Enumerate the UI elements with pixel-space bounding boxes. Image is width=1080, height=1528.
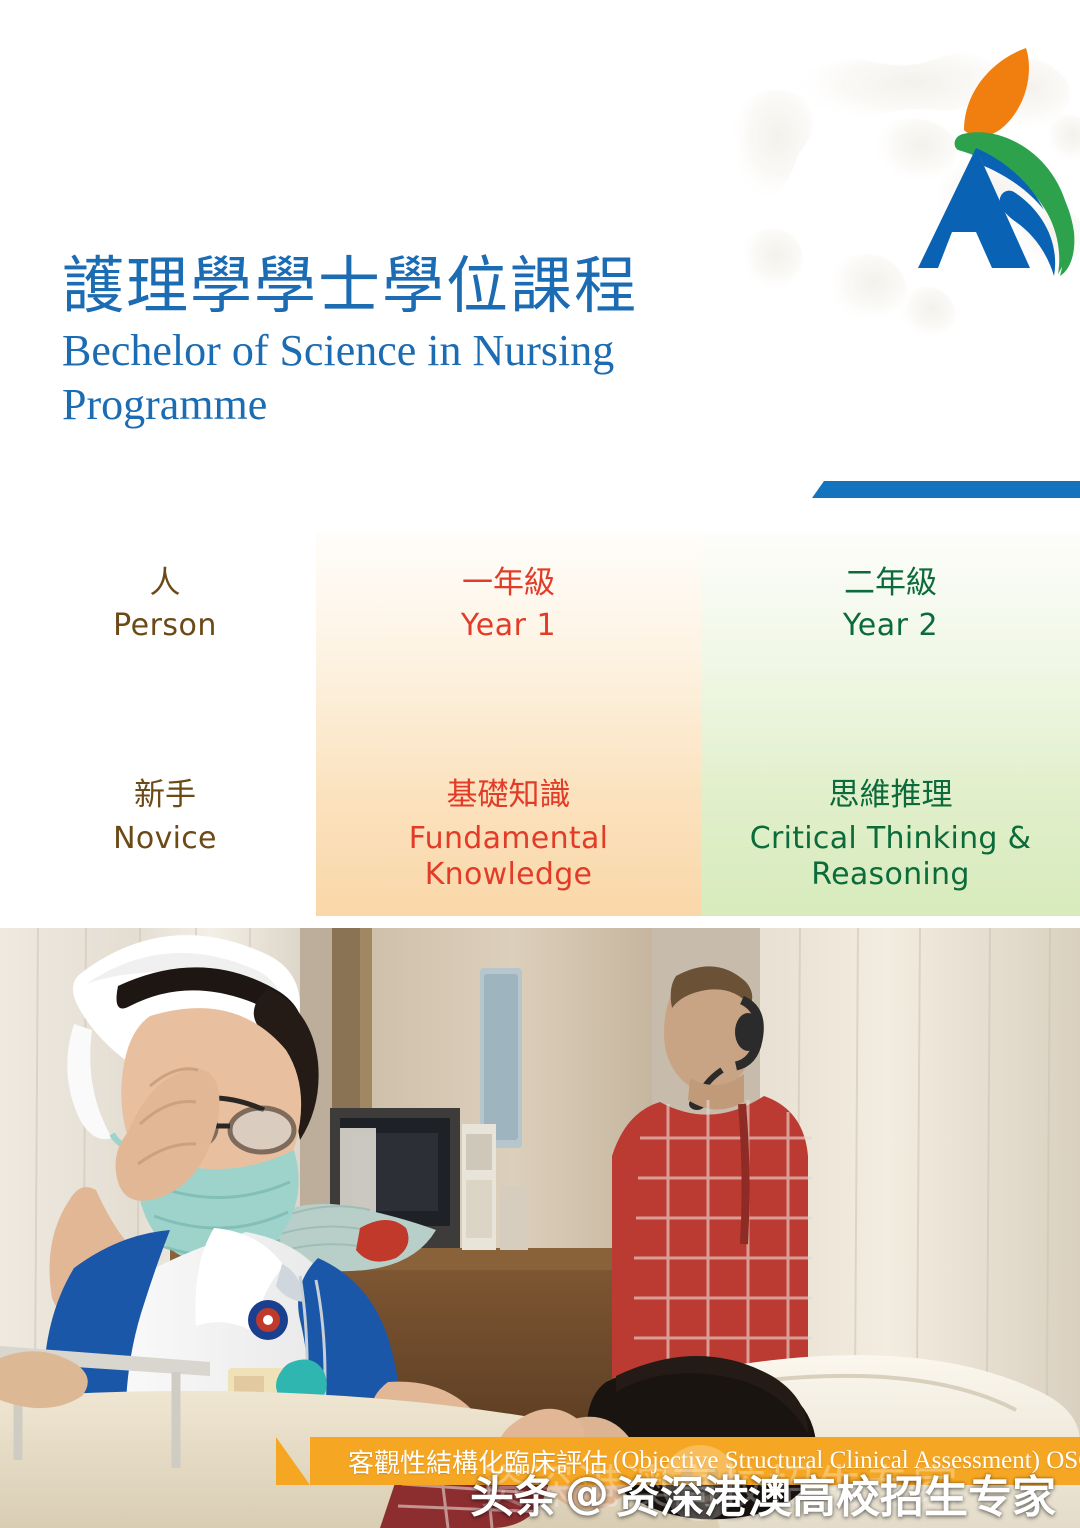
column-year-1-body: 基礎知識 Fundamental Knowledge (316, 775, 701, 894)
column-year-1-body-en: Fundamental Knowledge (326, 821, 691, 894)
progression-table: 人 Person 新手 Novice 一年級 Year 1 基礎知識 Funda… (0, 533, 1080, 916)
column-person-body: 新手 Novice (20, 775, 310, 857)
university-logo (918, 42, 1080, 277)
column-person-header: 人 Person (113, 533, 217, 647)
column-year-1-header-en: Year 1 (461, 604, 556, 648)
column-year-2-body: 思維推理 Critical Thinking & Reasoning (701, 775, 1080, 894)
column-person: 人 Person 新手 Novice (20, 533, 310, 916)
photo-caption-banner: 客觀性結構化臨床評估 (Objective Structural Clinica… (310, 1437, 1080, 1485)
page-title: 護理學學士學位課程 Bechelor of Science in Nursing… (62, 252, 822, 432)
column-person-header-zh: 人 (113, 563, 217, 604)
photo-caption-zh: 客觀性結構化臨床評估 (348, 1443, 608, 1480)
column-person-header-en: Person (113, 604, 217, 648)
column-person-body-en: Novice (30, 821, 300, 858)
column-year-1-body-zh: 基礎知識 (326, 775, 691, 817)
column-year-2-body-en: Critical Thinking & Reasoning (711, 821, 1070, 894)
column-year-2: 二年級 Year 2 思維推理 Critical Thinking & Reas… (701, 533, 1080, 916)
column-year-2-body-zh: 思維推理 (711, 775, 1070, 817)
column-year-1-header: 一年級 Year 1 (461, 533, 556, 647)
page-title-zh: 護理學學士學位課程 (62, 252, 822, 320)
column-year-2-header-en: Year 2 (843, 604, 938, 648)
column-year-1-header-zh: 一年級 (461, 563, 556, 604)
photo-caption-en: (Objective Structural Clinical Assessmen… (613, 1447, 1080, 1475)
blue-divider-rule (812, 481, 1080, 498)
column-year-2-header-zh: 二年級 (843, 563, 938, 604)
column-year-2-header: 二年級 Year 2 (843, 533, 938, 647)
column-year-1: 一年級 Year 1 基礎知識 Fundamental Knowledge (316, 533, 701, 916)
header-zone: 護理學學士學位課程 Bechelor of Science in Nursing… (0, 0, 1080, 530)
photo-caption-text: 客觀性結構化臨床評估 (Objective Structural Clinica… (348, 1437, 1076, 1485)
column-person-body-zh: 新手 (30, 775, 300, 817)
page-title-en: Bechelor of Science in Nursing Programme (62, 324, 762, 431)
